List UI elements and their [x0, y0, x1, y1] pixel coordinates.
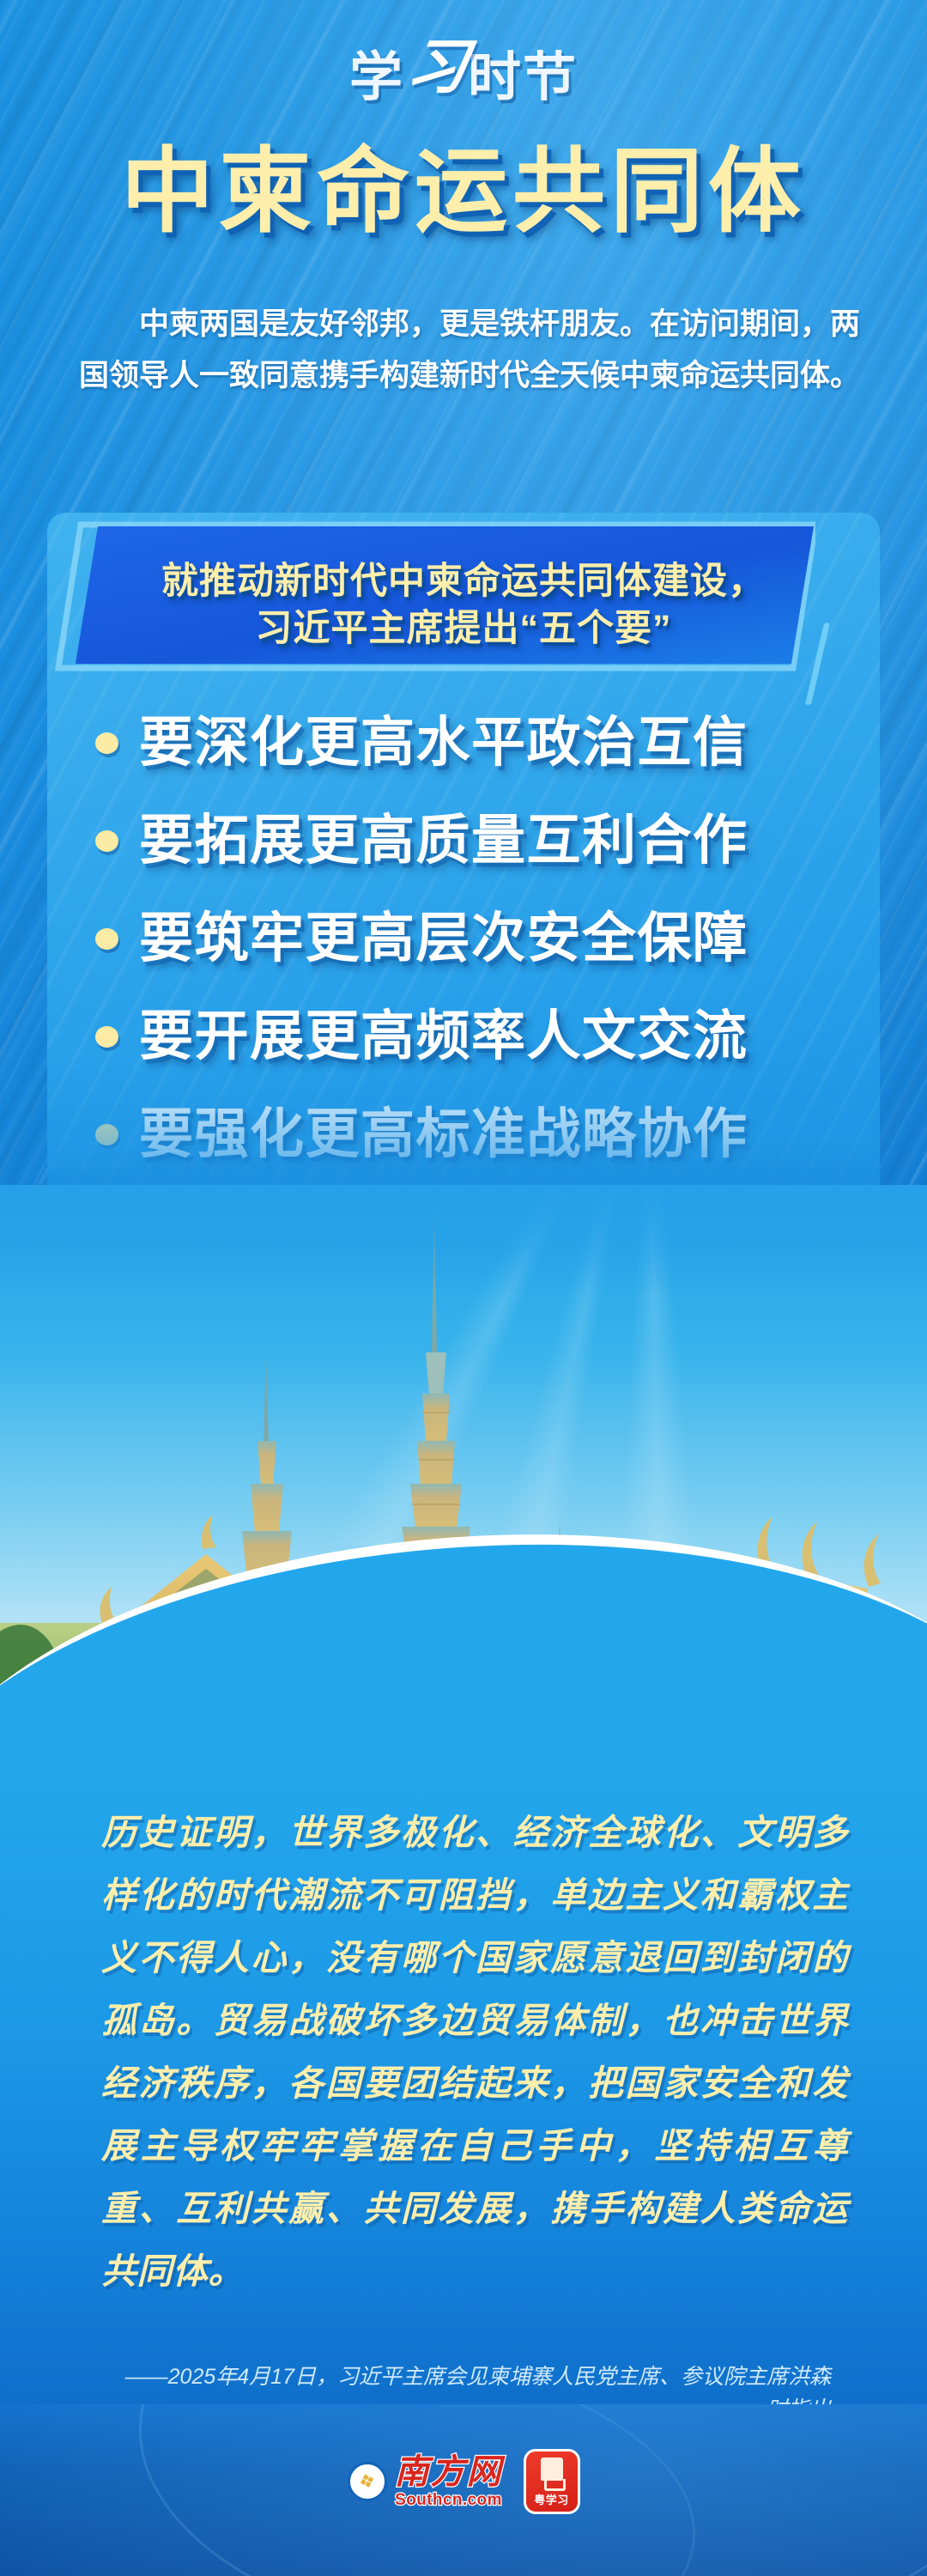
- yuexuexi-glyph-icon: [541, 2458, 563, 2481]
- brand-logo-part1: 学: [349, 52, 404, 105]
- five-points-card: 就推动新时代中柬命运共同体建设， 习近平主席提出“五个要” 要深化更高水平政治互…: [47, 513, 880, 1200]
- page-title: 中柬命运共同体: [0, 137, 927, 245]
- point-text: 要开展更高频率人文交流: [139, 1010, 748, 1064]
- point-text: 要深化更高水平政治互信: [139, 716, 748, 770]
- royal-palace-photo: [0, 1185, 927, 1786]
- points-list: 要深化更高水平政治互信 要拓展更高质量互利合作 要筑牢更高层次安全保障 要开展更…: [88, 703, 851, 1193]
- southcn-wordmark: 南方网 Southcn.com: [395, 2455, 503, 2508]
- intro-paragraph: 中柬两国是友好邻邦，更是铁杆朋友。在访问期间，两国领导人一致同意携手构建新时代全…: [79, 299, 860, 402]
- list-item: 要开展更高频率人文交流: [88, 997, 851, 1077]
- point-text: 要拓展更高质量互利合作: [139, 814, 748, 868]
- southcn-logo[interactable]: ❖ 南方网 Southcn.com: [348, 2455, 503, 2508]
- bullet-dot-icon: [95, 1026, 118, 1048]
- southcn-mark-icon: ❖: [348, 2462, 387, 2501]
- footer-logos: ❖ 南方网 Southcn.com 粤学习: [0, 2449, 927, 2514]
- quote-text: 历史证明，世界多极化、经济全球化、文明多样化的时代潮流不可阻挡，单边主义和霸权主…: [101, 1801, 848, 2303]
- point-text: 要强化更高标准战略协作: [139, 1108, 748, 1162]
- list-item: 要深化更高水平政治互信: [88, 703, 851, 783]
- footer: ❖ 南方网 Southcn.com 粤学习: [0, 2404, 927, 2576]
- bullet-dot-icon: [95, 928, 118, 950]
- brand-logo: 学 习 时节: [0, 19, 927, 105]
- southcn-name-en: Southcn.com: [395, 2492, 502, 2508]
- list-item: 要强化更高标准战略协作: [88, 1095, 851, 1175]
- list-item: 要筑牢更高层次安全保障: [88, 899, 851, 979]
- bullet-dot-icon: [95, 1124, 118, 1145]
- brand-logo-part2: 时节: [468, 52, 578, 105]
- yuexuexi-label: 粤学习: [534, 2494, 569, 2506]
- quote-section: 历史证明，世界多极化、经济全球化、文明多样化的时代潮流不可阻挡，单边主义和霸权主…: [0, 1769, 927, 2404]
- bullet-dot-icon: [95, 732, 118, 754]
- banner-line-1: 就推动新时代中柬命运共同体建设，: [161, 558, 766, 605]
- list-item: 要拓展更高质量互利合作: [88, 801, 851, 881]
- banner-text-block: 就推动新时代中柬命运共同体建设， 习近平主席提出“五个要”: [55, 521, 872, 689]
- bullet-dot-icon: [95, 830, 118, 852]
- poster-root: 学 习 时节 中柬命运共同体 中柬两国是友好邻邦，更是铁杆朋友。在访问期间，两国…: [0, 0, 927, 2576]
- yuexuexi-app-icon[interactable]: 粤学习: [524, 2449, 580, 2514]
- banner-line-2: 习近平主席提出“五个要”: [256, 605, 672, 652]
- southcn-name-cn: 南方网: [395, 2455, 503, 2489]
- banner-heading: 就推动新时代中柬命运共同体建设， 习近平主席提出“五个要”: [55, 521, 815, 671]
- point-text: 要筑牢更高层次安全保障: [139, 912, 748, 966]
- photo-top-fade: [0, 1185, 927, 1297]
- brand-logo-cursive-xi: 习: [403, 37, 472, 97]
